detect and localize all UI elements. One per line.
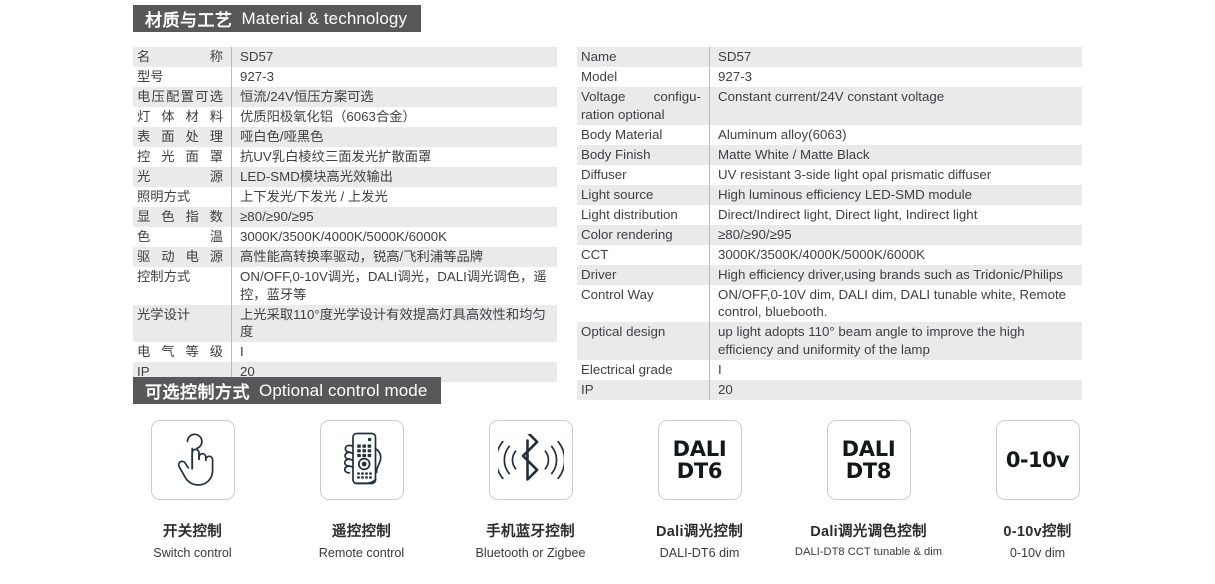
section-header-control-mode: 可选控制方式 Optional control mode [133, 377, 441, 404]
spec-row-value: Constant current/24V constant voltage [709, 87, 1082, 125]
dali-dt6-icon: DALIDT6 [673, 438, 727, 482]
spec-row-value: 哑白色/哑黑色 [231, 127, 557, 147]
spec-row-value: High luminous efficiency LED-SMD module [709, 185, 1082, 205]
spec-row-label-text: Light distribution [581, 207, 678, 222]
spec-row-value: ON/OFF,0-10V调光，DALI调光，DALI调光调色，遥控，蓝牙等 [231, 267, 557, 305]
spec-row-label-text: Light source [581, 187, 653, 202]
spec-row-label: Body Finish [577, 145, 709, 165]
control-mode-label-cn: Dali调光调色控制 [810, 520, 927, 541]
spec-row-label-text: 控制方式 [137, 269, 190, 284]
spec-row-value: I [231, 342, 557, 362]
spec-row-label: 色温 [133, 227, 231, 247]
spec-row-label-text: 色温 [137, 228, 223, 246]
spec-row-label: Voltage configu-ration optional [577, 87, 709, 125]
spec-row-value: 927-3 [709, 67, 1082, 87]
spec-row-label: 光源 [133, 167, 231, 187]
spec-row: Electrical gradeI [577, 360, 1082, 380]
spec-row-label-text: Body Material [581, 127, 662, 142]
spec-row: Color rendering≥80/≥90/≥95 [577, 225, 1082, 245]
control-mode-label-en: Remote control [319, 546, 404, 560]
spec-row: Control WayON/OFF,0-10V dim, DALI dim, D… [577, 285, 1082, 323]
spec-row-label: CCT [577, 245, 709, 265]
spec-row-value: 上下发光/下发光 / 上发光 [231, 187, 557, 207]
spec-row-label-text: 光学设计 [137, 307, 190, 322]
spec-row-label-text: Driver [581, 267, 616, 282]
spec-row-label-text: Control Way [581, 287, 654, 302]
spec-row-label-text: Electrical grade [581, 362, 673, 377]
spec-row-label-text: 型号 [137, 69, 164, 84]
bluetooth-signal-icon-box [489, 420, 573, 500]
spec-row-label: 驱动电源 [133, 247, 231, 267]
touch-hand-icon-box [151, 420, 235, 500]
badge-line-1: DALI [842, 437, 896, 461]
dali-dt8-icon-box: DALIDT8 [827, 420, 911, 500]
section-header-material-en: Material & technology [242, 9, 408, 29]
control-mode-label-en: 0-10v dim [1010, 546, 1065, 560]
control-mode-list: 开关控制Switch control [120, 420, 1110, 560]
spec-row-label-text: Body Finish [581, 147, 650, 162]
control-mode-card[interactable]: 开关控制Switch control [120, 420, 265, 560]
spec-row: 控光面罩抗UV乳白棱纹三面发光扩散面罩 [133, 147, 557, 167]
section-header-material-cn: 材质与工艺 [145, 6, 233, 31]
spec-row-label-text: 照明方式 [137, 189, 190, 204]
zero-to-ten-volt-icon-box: 0-10v [996, 420, 1080, 500]
spec-row-label-text: Color rendering [581, 227, 673, 242]
spec-row-label: 光学设计 [133, 305, 231, 343]
spec-row-label: Name [577, 47, 709, 67]
badge-line-2: DT6 [673, 460, 727, 482]
spec-row-label: Driver [577, 265, 709, 285]
control-mode-card[interactable]: 遥控控制Remote control [289, 420, 434, 560]
spec-row: CCT3000K/3500K/4000K/5000K/6000K [577, 245, 1082, 265]
spec-row-label: Model [577, 67, 709, 87]
touch-hand-icon [165, 430, 221, 490]
spec-row-label-text: 光源 [137, 168, 223, 186]
spec-row-label: Control Way [577, 285, 709, 323]
spec-row: Light sourceHigh luminous efficiency LED… [577, 185, 1082, 205]
spec-row: 照明方式上下发光/下发光 / 上发光 [133, 187, 557, 207]
dali-dt6-icon-box: DALIDT6 [658, 420, 742, 500]
spec-row-label-text: 电压配置可选 [137, 88, 223, 106]
spec-row-value: Direct/Indirect light, Direct light, Ind… [709, 205, 1082, 225]
spec-row: DiffuserUV resistant 3-side light opal p… [577, 165, 1082, 185]
control-mode-label-cn: 遥控控制 [332, 520, 391, 541]
spec-row: 光学设计上光采取110°度光学设计有效提高灯具高效性和均匀度 [133, 305, 557, 343]
spec-row-value: 20 [709, 380, 1082, 400]
control-mode-card[interactable]: DALIDT8Dali调光调色控制DALI-DT8 CCT tunable & … [796, 420, 941, 560]
control-mode-label-cn: 开关控制 [163, 520, 222, 541]
control-mode-card[interactable]: 0-10v0-10v控制0-10v dim [965, 420, 1110, 560]
spec-row-value: up light adopts 110° beam angle to impro… [709, 322, 1082, 360]
spec-row-value: ≥80/≥90/≥95 [231, 207, 557, 227]
spec-row-label: Optical design [577, 322, 709, 360]
spec-row: 灯体材料优质阳极氧化铝（6063合金） [133, 107, 557, 127]
spec-row-label: 电压配置可选 [133, 87, 231, 107]
spec-row: DriverHigh efficiency driver,using brand… [577, 265, 1082, 285]
spec-row-value: 3000K/3500K/4000K/5000K/6000K [231, 227, 557, 247]
zero-to-ten-volt-icon: 0-10v [1006, 448, 1069, 472]
spec-row-label: 控制方式 [133, 267, 231, 305]
spec-row: 显色指数≥80/≥90/≥95 [133, 207, 557, 227]
spec-row: Body MaterialAluminum alloy(6063) [577, 125, 1082, 145]
spec-row: 型号927-3 [133, 67, 557, 87]
control-mode-label-cn: 0-10v控制 [1003, 520, 1071, 541]
remote-control-icon-box [320, 420, 404, 500]
spec-row-value: I [709, 360, 1082, 380]
section-header-control-en: Optional control mode [259, 381, 427, 401]
spec-row-label: Electrical grade [577, 360, 709, 380]
spec-row: 名称SD57 [133, 47, 557, 67]
badge-line-1: DALI [673, 437, 727, 461]
spec-row-label-text: Optical design [581, 324, 665, 339]
spec-row-label: 控光面罩 [133, 147, 231, 167]
spec-row: Voltage configu-ration optionalConstant … [577, 87, 1082, 125]
spec-row-label-text: Voltage configu-ration optional [581, 88, 701, 123]
spec-row: 光源LED-SMD模块高光效输出 [133, 167, 557, 187]
remote-control-icon [333, 429, 391, 491]
control-mode-card[interactable]: 手机蓝牙控制Bluetooth or Zigbee [458, 420, 603, 560]
spec-row-value: 927-3 [231, 67, 557, 87]
spec-table-chinese: 名称SD57型号927-3电压配置可选恒流/24V恒压方案可选灯体材料优质阳极氧… [133, 47, 557, 382]
control-mode-label-en: Switch control [153, 546, 231, 560]
spec-row-label: Light source [577, 185, 709, 205]
spec-row-value: SD57 [709, 47, 1082, 67]
spec-row-label: Body Material [577, 125, 709, 145]
spec-row-value: 抗UV乳白棱纹三面发光扩散面罩 [231, 147, 557, 167]
spec-row-label-text: CCT [581, 247, 608, 262]
spec-row: Optical designup light adopts 110° beam … [577, 322, 1082, 360]
spec-row-label: IP [577, 380, 709, 400]
dali-dt8-icon: DALIDT8 [842, 438, 896, 482]
spec-row-label-text: 显色指数 [137, 208, 223, 226]
spec-row-label: Diffuser [577, 165, 709, 185]
spec-row-label: 电气等级 [133, 342, 231, 362]
spec-row-label: 照明方式 [133, 187, 231, 207]
spec-row: 控制方式ON/OFF,0-10V调光，DALI调光，DALI调光调色，遥控，蓝牙… [133, 267, 557, 305]
spec-row-label-text: Name [581, 49, 616, 64]
spec-row-label-text: Diffuser [581, 167, 627, 182]
spec-row-label-text: 表面处理 [137, 128, 223, 146]
control-mode-label-cn: 手机蓝牙控制 [486, 520, 575, 541]
spec-row-label-text: 灯体材料 [137, 108, 223, 126]
spec-row: Body FinishMatte White / Matte Black [577, 145, 1082, 165]
spec-row: Light distributionDirect/Indirect light,… [577, 205, 1082, 225]
spec-row-value: 高性能高转换率驱动，锐高/飞利浦等品牌 [231, 247, 557, 267]
spec-row: 电压配置可选恒流/24V恒压方案可选 [133, 87, 557, 107]
spec-row-label: Light distribution [577, 205, 709, 225]
spec-row-label-text: Model [581, 69, 617, 84]
spec-row: NameSD57 [577, 47, 1082, 67]
spec-row-label: 型号 [133, 67, 231, 87]
spec-row-value: UV resistant 3-side light opal prismatic… [709, 165, 1082, 185]
bluetooth-signal-icon [498, 434, 564, 486]
spec-row-label-text: 驱动电源 [137, 248, 223, 266]
spec-row: 电气等级I [133, 342, 557, 362]
spec-row-label-text: 电气等级 [137, 343, 223, 361]
spec-row: 驱动电源高性能高转换率驱动，锐高/飞利浦等品牌 [133, 247, 557, 267]
badge-line-2: DT8 [842, 460, 896, 482]
spec-row-value: SD57 [231, 47, 557, 67]
control-mode-label-en: DALI-DT8 CCT tunable & dim [795, 546, 942, 558]
section-header-material: 材质与工艺 Material & technology [133, 5, 421, 32]
control-mode-label-en: Bluetooth or Zigbee [476, 546, 586, 560]
spec-row-value: ≥80/≥90/≥95 [709, 225, 1082, 245]
spec-row-value: LED-SMD模块高光效输出 [231, 167, 557, 187]
spec-row: Model927-3 [577, 67, 1082, 87]
spec-row-label-text: 名称 [137, 48, 223, 66]
spec-row-value: Matte White / Matte Black [709, 145, 1082, 165]
control-mode-label-cn: Dali调光控制 [656, 520, 743, 541]
control-mode-card[interactable]: DALIDT6Dali调光控制DALI-DT6 dim [627, 420, 772, 560]
spec-row: 色温3000K/3500K/4000K/5000K/6000K [133, 227, 557, 247]
spec-row-label: 显色指数 [133, 207, 231, 227]
control-mode-label-en: DALI-DT6 dim [660, 546, 740, 560]
spec-table-english: NameSD57Model927-3Voltage configu-ration… [577, 47, 1082, 400]
spec-row: 表面处理哑白色/哑黑色 [133, 127, 557, 147]
spec-row-value: 恒流/24V恒压方案可选 [231, 87, 557, 107]
spec-row-label-text: 控光面罩 [137, 148, 223, 166]
spec-row-value: Aluminum alloy(6063) [709, 125, 1082, 145]
section-header-control-cn: 可选控制方式 [145, 378, 250, 403]
spec-row-label-text: IP [581, 382, 594, 397]
spec-row-value: 优质阳极氧化铝（6063合金） [231, 107, 557, 127]
spec-row-value: ON/OFF,0-10V dim, DALI dim, DALI tunable… [709, 285, 1082, 323]
spec-row: IP20 [577, 380, 1082, 400]
spec-row-label: 表面处理 [133, 127, 231, 147]
spec-row-label: 灯体材料 [133, 107, 231, 127]
spec-row-label: 名称 [133, 47, 231, 67]
spec-row-value: High efficiency driver,using brands such… [709, 265, 1082, 285]
spec-row-value: 上光采取110°度光学设计有效提高灯具高效性和均匀度 [231, 305, 557, 343]
spec-row-label: Color rendering [577, 225, 709, 245]
spec-row-value: 3000K/3500K/4000K/5000K/6000K [709, 245, 1082, 265]
